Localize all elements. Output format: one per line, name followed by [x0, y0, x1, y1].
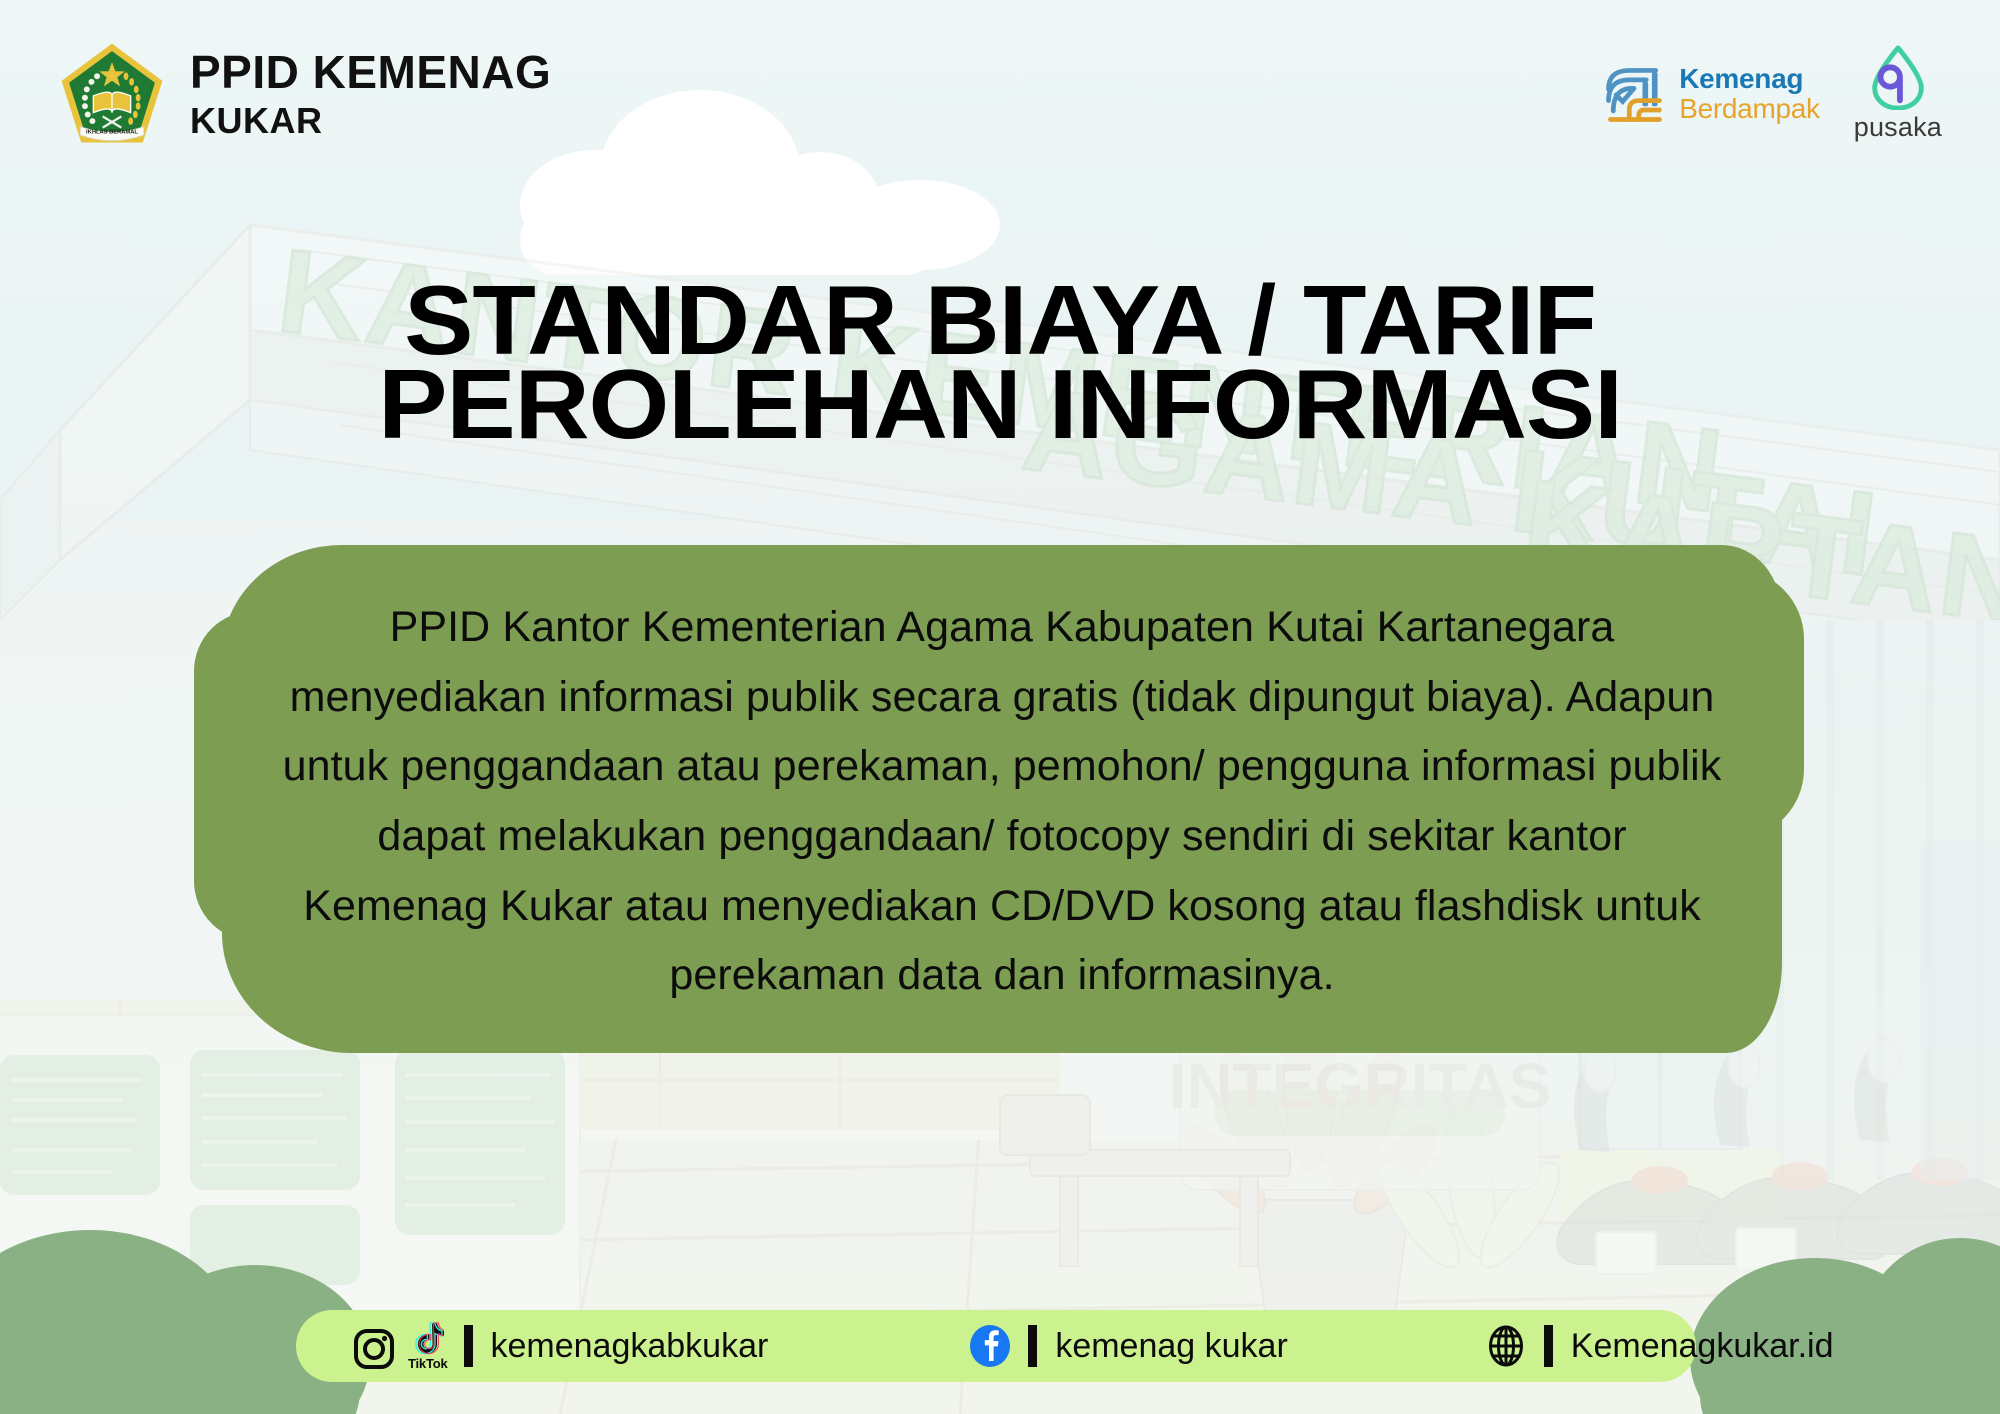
tiktok-icon[interactable]	[412, 1321, 444, 1355]
footer-separator	[1028, 1325, 1037, 1367]
kemenag-berdampak-word-2: Berdampak	[1679, 95, 1820, 123]
kemenag-berdampak-logo: Kemenag Berdampak	[1601, 61, 1820, 127]
footer-item-facebook[interactable]: kemenag kukar	[968, 1310, 1287, 1382]
footer-handle-instagram: kemenagkabkukar	[491, 1327, 769, 1366]
globe-icon[interactable]	[1484, 1324, 1528, 1368]
poster-canvas: KANTOR KEMENTERIAN AGAMA KUTAI KARTANEGA…	[0, 0, 2000, 1414]
body-text-panel: PPID Kantor Kementerian Agama Kabupaten …	[222, 545, 1782, 1053]
tiktok-label: TikTok	[408, 1356, 448, 1371]
footer-handle-website: Kemenagkukar.id	[1571, 1327, 1834, 1366]
kemenag-emblem-icon: IKHLAS BERAMAL	[56, 38, 168, 150]
svg-text:INTEGRITAS: INTEGRITAS	[1169, 1050, 1552, 1122]
footer-separator	[1544, 1325, 1553, 1367]
poster-title: STANDAR BIAYA / TARIF PEROLEHAN INFORMAS…	[0, 278, 2000, 447]
pusaka-logo: pusaka	[1854, 44, 1942, 143]
footer-item-instagram[interactable]: TikTok kemenagkabkukar	[352, 1310, 768, 1382]
title-line-2: PEROLEHAN INFORMASI	[0, 362, 2000, 446]
poster-header: IKHLAS BERAMAL PPID KEMENAG KUKAR	[0, 0, 2000, 175]
kemenag-berdampak-mark-icon	[1601, 61, 1667, 127]
body-paragraph: PPID Kantor Kementerian Agama Kabupaten …	[222, 545, 1782, 1053]
footer-item-website[interactable]: Kemenagkukar.id	[1484, 1310, 1834, 1382]
brand-block: IKHLAS BERAMAL PPID KEMENAG KUKAR	[56, 38, 551, 150]
svg-text:IKHLAS BERAMAL: IKHLAS BERAMAL	[86, 130, 138, 136]
brand-title-secondary: KUKAR	[190, 102, 551, 140]
facebook-icon[interactable]	[968, 1324, 1012, 1368]
social-footer-bar: TikTok kemenagkabkukar kemenag kukar	[296, 1310, 1696, 1382]
instagram-icon[interactable]	[352, 1327, 396, 1371]
kemenag-berdampak-word-1: Kemenag	[1679, 65, 1820, 93]
footer-handle-facebook: kemenag kukar	[1055, 1327, 1287, 1366]
pusaka-wordmark: pusaka	[1854, 112, 1942, 143]
footer-separator	[464, 1325, 473, 1367]
brand-title-primary: PPID KEMENAG	[190, 48, 551, 97]
partner-logos: Kemenag Berdampak pusaka	[1601, 44, 1942, 143]
pusaka-droplet-icon	[1870, 44, 1926, 110]
